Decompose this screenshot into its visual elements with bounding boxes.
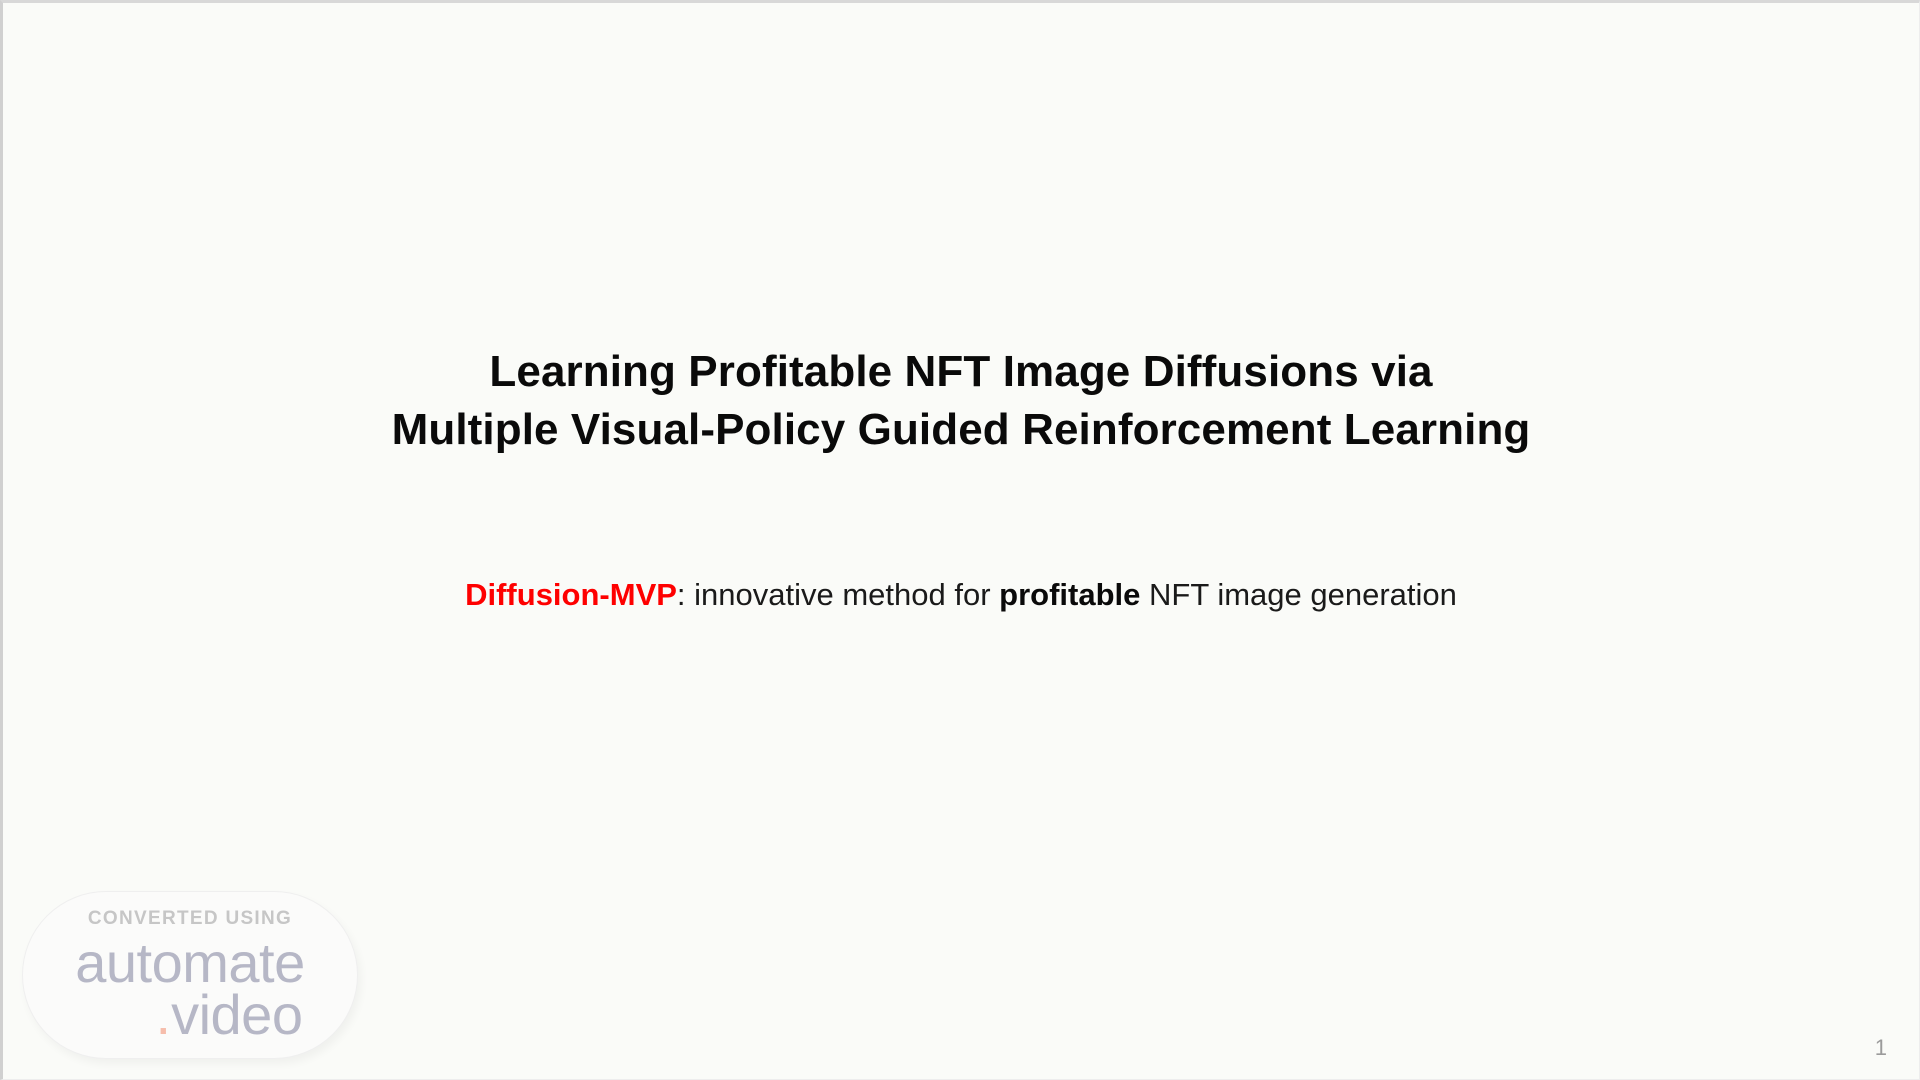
slide-title: Learning Profitable NFT Image Diffusions…: [3, 343, 1919, 459]
subtitle-text-part-1: : innovative method for: [677, 577, 999, 612]
slide-title-line-2: Multiple Visual-Policy Guided Reinforcem…: [3, 401, 1919, 459]
slide-subtitle: Diffusion-MVP: innovative method for pro…: [3, 575, 1919, 615]
watermark-dot-icon: .: [156, 986, 172, 1044]
subtitle-emphasis-profitable: profitable: [999, 577, 1140, 612]
slide-page-number: 1: [1875, 1035, 1887, 1061]
presentation-slide: Learning Profitable NFT Image Diffusions…: [0, 0, 1920, 1080]
watermark-eyebrow-label: CONVERTED USING: [88, 906, 292, 932]
slide-title-line-1: Learning Profitable NFT Image Diffusions…: [3, 343, 1919, 401]
automate-video-watermark: CONVERTED USING automate .video: [22, 891, 358, 1059]
subtitle-method-name: Diffusion-MVP: [465, 577, 677, 612]
watermark-domain-row: .video: [156, 986, 303, 1044]
subtitle-text-part-2: NFT image generation: [1140, 577, 1456, 612]
watermark-domain-name: video: [171, 986, 302, 1044]
